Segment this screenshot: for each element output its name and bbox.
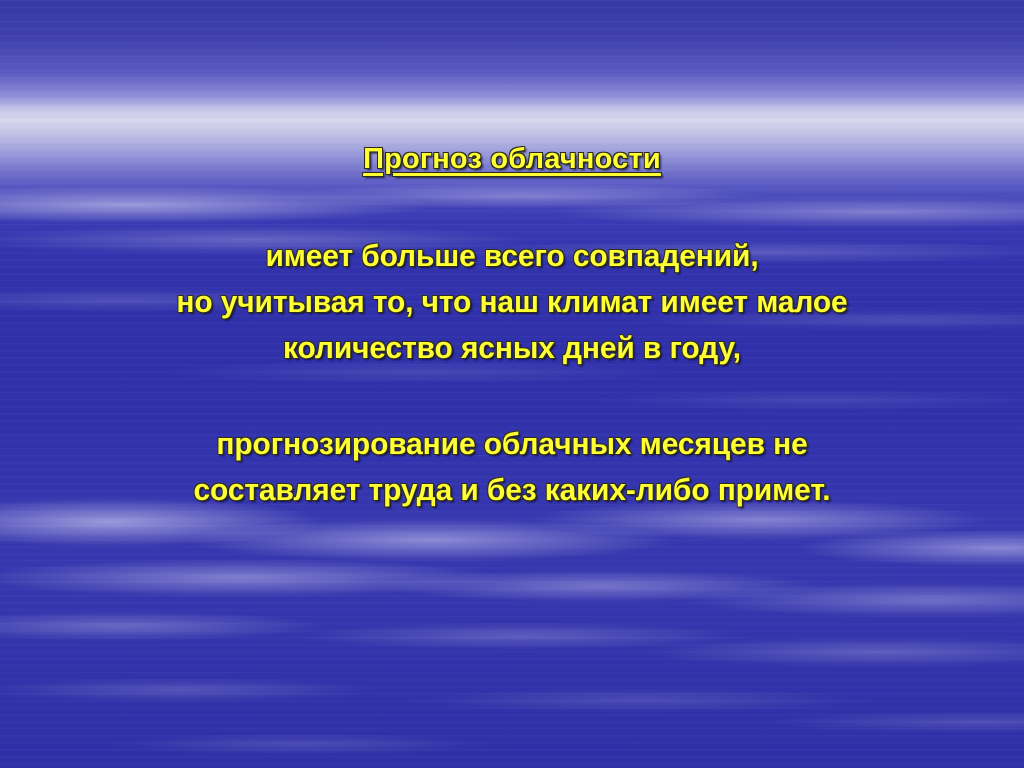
presentation-slide: Прогноз облачности имеет больше всего со… (0, 0, 1024, 768)
body-line: имеет больше всего совпадений, (18, 233, 1006, 279)
body-line: прогнозирование облачных месяцев не (18, 421, 1006, 467)
body-line: но учитывая то, что наш климат имеет мал… (18, 279, 1006, 325)
body-paragraph-2: прогнозирование облачных месяцев не сост… (0, 421, 1024, 513)
body-paragraph-1: имеет больше всего совпадений, но учитыв… (0, 233, 1024, 371)
body-line: количество ясных дней в году, (18, 325, 1006, 371)
slide-title: Прогноз облачности (0, 144, 1024, 174)
body-line: составляет труда и без каких-либо примет… (18, 467, 1006, 513)
slide-content: Прогноз облачности имеет больше всего со… (0, 0, 1024, 768)
